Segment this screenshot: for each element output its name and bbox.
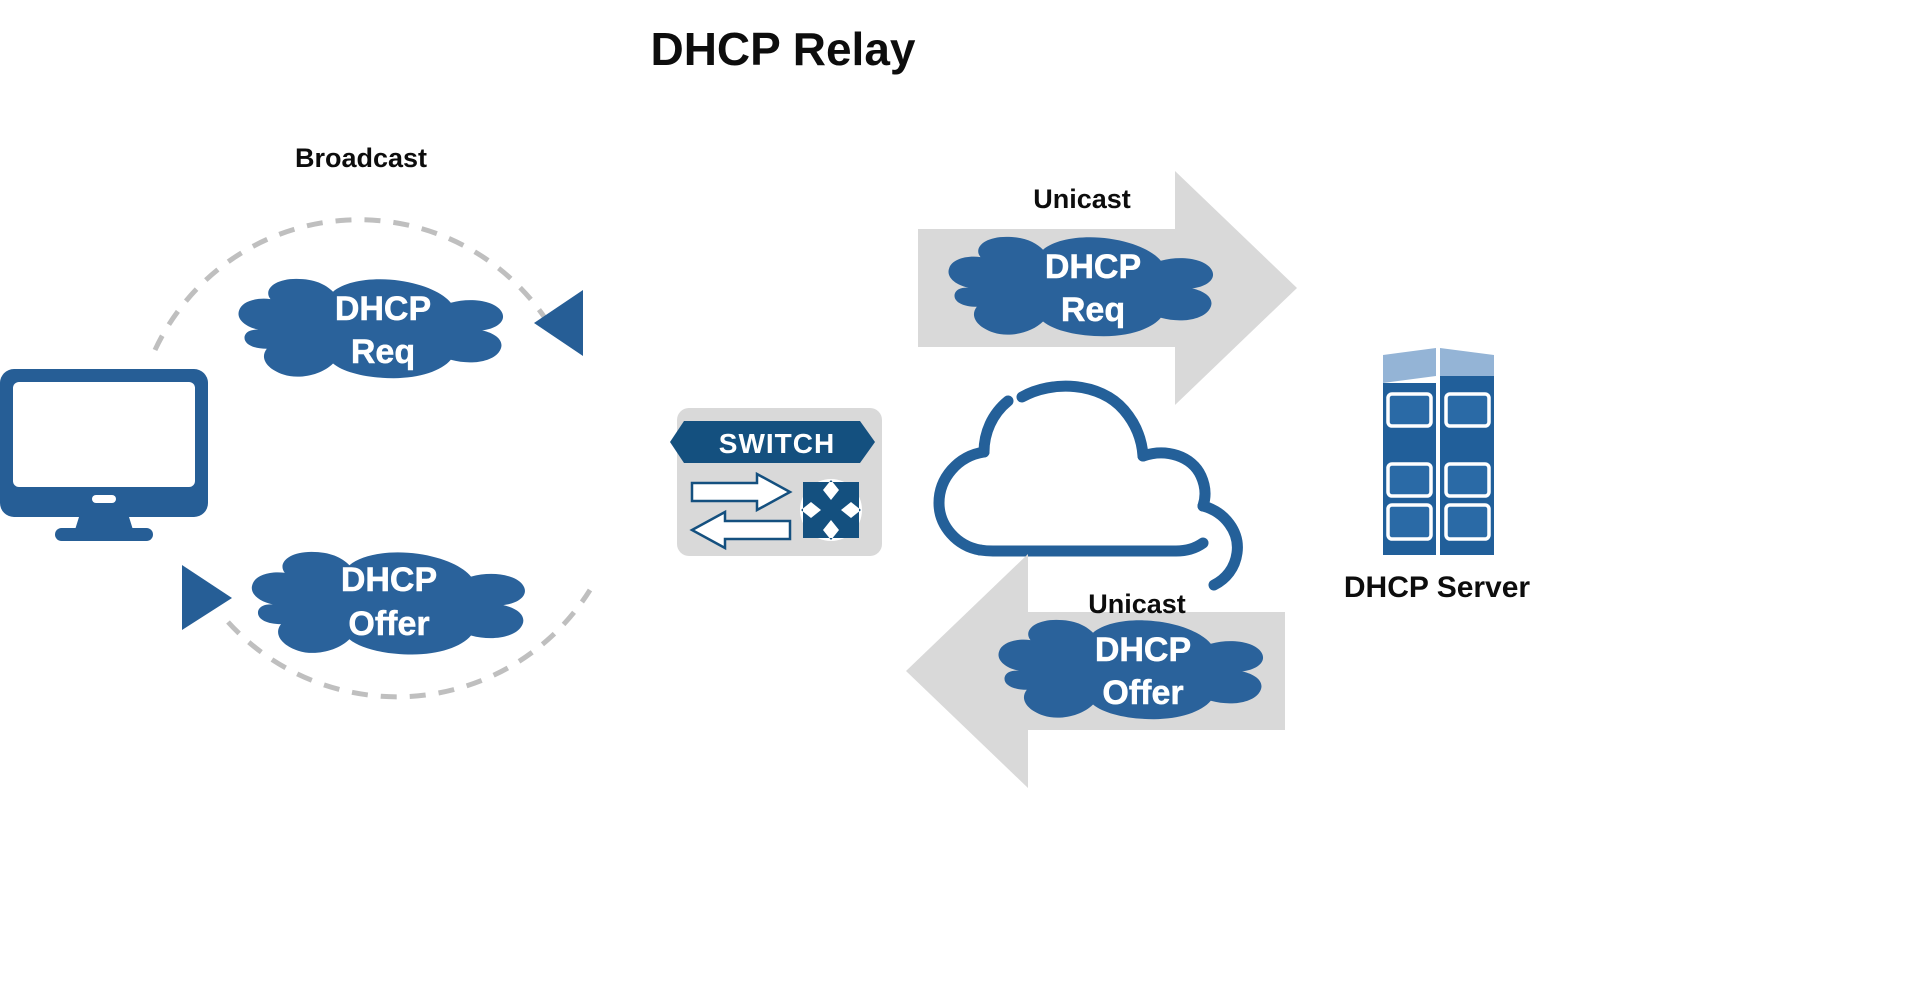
server-rack-icon <box>1383 348 1494 555</box>
blob-dhcp-req-broadcast-line2: Req <box>351 333 415 371</box>
unicast-upstream-label: Unicast <box>1033 184 1131 214</box>
dhcp-server-label: DHCP Server <box>1344 571 1531 604</box>
switch-banner-label: SWITCH <box>719 428 835 459</box>
blob-dhcp-offer-unicast-line1: DHCP <box>1095 631 1191 669</box>
dhcp-relay-diagram: DHCP Relay Broadcast <box>0 0 1920 984</box>
diagram-canvas: DHCP Relay Broadcast <box>0 0 1920 984</box>
broadcast-group: Broadcast DHCP Req <box>0 143 590 697</box>
unicast-downstream-label: Unicast <box>1088 589 1186 619</box>
blob-dhcp-req-unicast-line1: DHCP <box>1045 248 1141 286</box>
blob-dhcp-offer-broadcast-line1: DHCP <box>341 561 437 599</box>
broadcast-arrowhead-bottom <box>182 565 232 630</box>
blob-dhcp-offer-broadcast-line2: Offer <box>348 605 429 643</box>
switch-panel[interactable]: SWITCH <box>670 408 882 556</box>
blob-dhcp-offer-unicast-line2: Offer <box>1102 674 1183 712</box>
blob-dhcp-req-broadcast-line1: DHCP <box>335 290 431 328</box>
cloud-outline-icon <box>939 386 1237 585</box>
broadcast-label: Broadcast <box>295 143 427 173</box>
broadcast-arrowhead-top <box>534 290 583 356</box>
page-title: DHCP Relay <box>650 23 915 75</box>
blob-dhcp-req-unicast-line2: Req <box>1061 291 1125 329</box>
unicast-upstream-group: Unicast DHCP Req <box>918 171 1297 405</box>
monitor-icon <box>0 369 208 541</box>
unicast-downstream-group: Unicast DHCP Offer <box>906 554 1285 788</box>
